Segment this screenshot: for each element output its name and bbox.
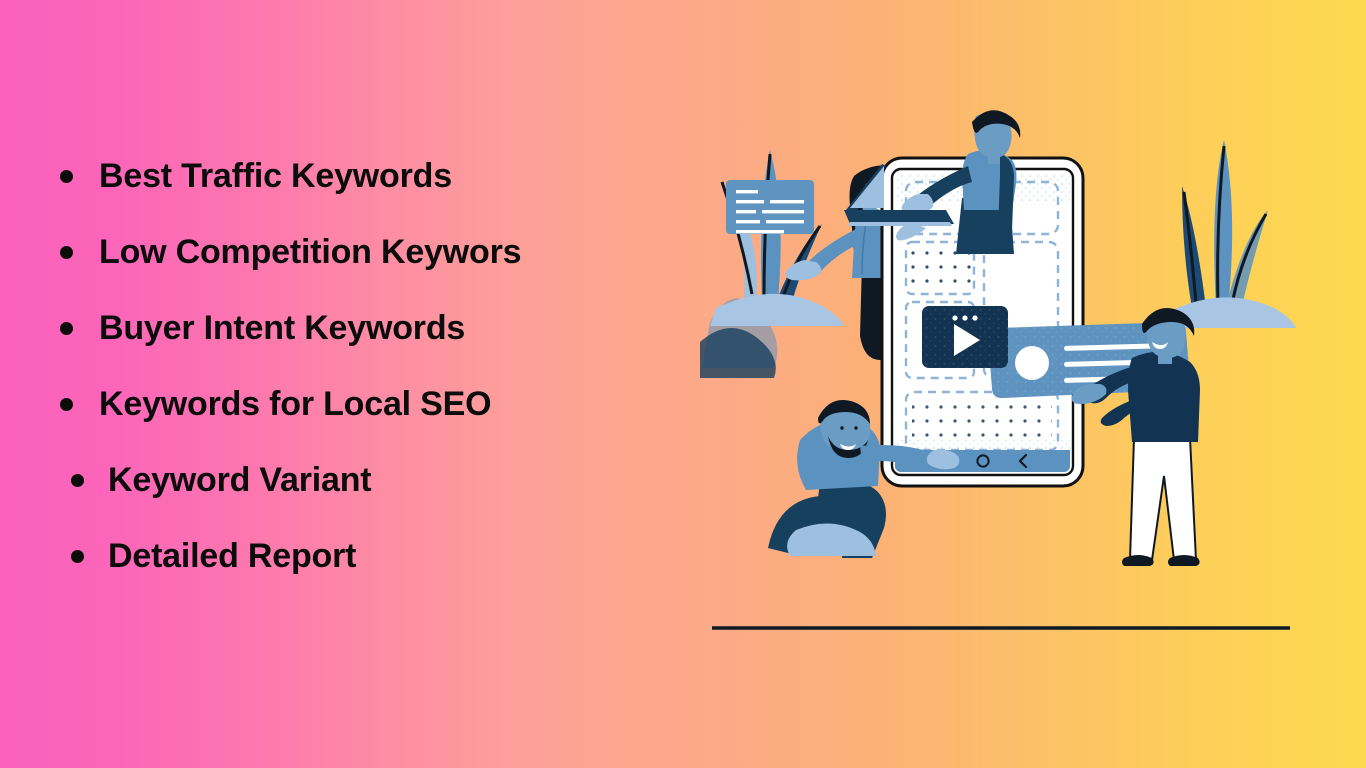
bullet-icon (71, 474, 84, 487)
list-item: Detailed Report (60, 518, 700, 594)
plant-right (1156, 140, 1296, 328)
list-item: Keyword Variant (60, 442, 700, 518)
poster-canvas: Best Traffic Keywords Low Competition Ke… (0, 0, 1366, 768)
bullet-icon (60, 246, 73, 259)
video-card (922, 306, 1008, 368)
team-illustration (700, 110, 1300, 650)
list-item: Best Traffic Keywords (60, 138, 700, 214)
list-item: Low Competition Keywors (60, 214, 700, 290)
plant-left (710, 150, 844, 326)
feature-label: Low Competition Keywors (99, 235, 521, 269)
feature-label: Best Traffic Keywords (99, 159, 452, 193)
bullet-icon (60, 170, 73, 183)
feature-label: Detailed Report (108, 539, 356, 573)
circle-avatar (1015, 346, 1049, 380)
feature-label: Keywords for Local SEO (99, 387, 491, 421)
bullet-icon (60, 398, 73, 411)
list-item: Buyer Intent Keywords (60, 290, 700, 366)
feature-list: Best Traffic Keywords Low Competition Ke… (60, 138, 700, 594)
bullet-icon (60, 322, 73, 335)
feature-label: Keyword Variant (108, 463, 371, 497)
floating-card-left (726, 180, 814, 234)
list-item: Keywords for Local SEO (60, 366, 700, 442)
bullet-icon (71, 550, 84, 563)
feature-label: Buyer Intent Keywords (99, 311, 465, 345)
